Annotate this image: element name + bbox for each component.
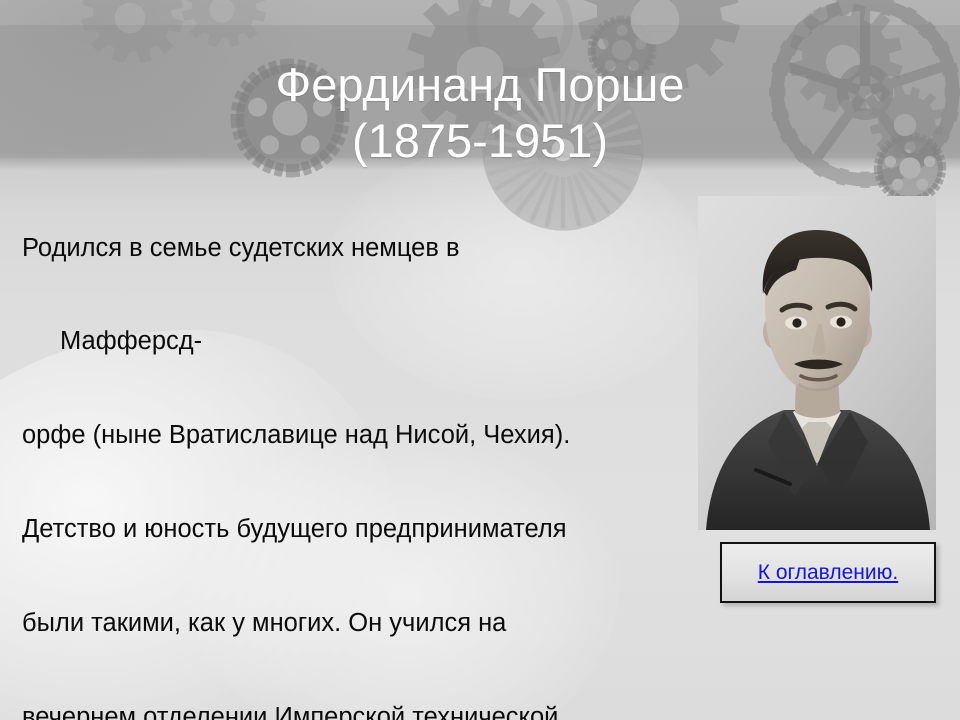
text-line: Детство и юность будущего предпринимател… [22, 514, 704, 545]
title-years: (1875-1951) [60, 113, 900, 169]
text-line: Мафферсд- [22, 326, 704, 357]
page-title: Фердинанд Порше (1875-1951) [60, 57, 900, 169]
back-to-contents-button[interactable]: К оглавлению. [720, 542, 936, 603]
text-line: орфе (ныне Вратиславице над Нисой, Чехия… [22, 420, 704, 451]
back-to-contents-link[interactable]: К оглавлению. [758, 561, 898, 585]
portrait-photo: Фердинанд Порше, портрет [698, 196, 936, 530]
title-name: Фердинанд Порше [275, 58, 684, 111]
slide-root: Фердинанд Порше (1875-1951) Родился в се… [0, 0, 960, 720]
text-line: Родился в семье судетских немцев в [22, 233, 704, 264]
text-line: вечернем отделении Имперской технической [22, 702, 704, 720]
text-line: были такими, как у многих. Он учился на [22, 608, 704, 639]
biography-text: Родился в семье судетских немцев в Маффе… [22, 170, 704, 720]
